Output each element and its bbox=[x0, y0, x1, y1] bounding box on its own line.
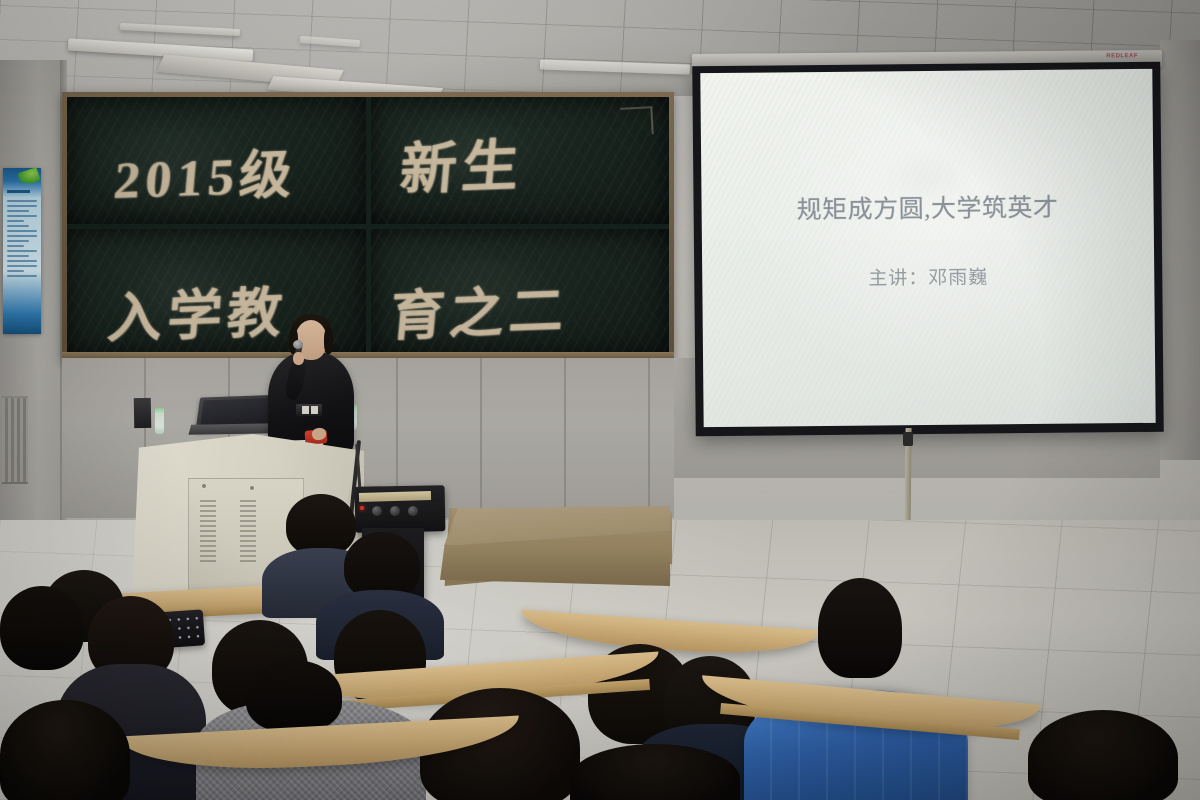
lectern-screw bbox=[202, 484, 206, 488]
student-hair bbox=[246, 660, 342, 732]
blackboard-pane-top-right: 新生 bbox=[371, 97, 670, 224]
blackboard-pane-bottom-right: 育之二 bbox=[371, 229, 670, 356]
presenter-hair-side bbox=[324, 328, 333, 354]
power-led-indicator bbox=[360, 506, 364, 510]
blackboard-panes: 2015级 新生 入学教 育之二 bbox=[67, 97, 669, 355]
student-hair bbox=[570, 744, 740, 800]
student-head bbox=[0, 586, 84, 670]
lectern-screw bbox=[250, 486, 254, 490]
lectern-vent bbox=[240, 500, 256, 562]
screen-cord-clip bbox=[903, 432, 913, 446]
chalk-text: 新生 bbox=[397, 121, 528, 206]
slide-title: 规矩成方圆,大学筑英才 bbox=[797, 188, 1059, 227]
projector-screen[interactable]: 规矩成方圆,大学筑英才 主讲：邓雨巍 bbox=[692, 62, 1164, 436]
projector-screen-surface: 规矩成方圆,大学筑英才 主讲：邓雨巍 bbox=[700, 69, 1155, 427]
slide-content: 规矩成方圆,大学筑英才 主讲：邓雨巍 bbox=[700, 69, 1155, 427]
leaf-graphic-icon bbox=[17, 168, 40, 187]
microphone-head-icon bbox=[293, 340, 303, 349]
chalk-text: 入学教 bbox=[105, 267, 291, 352]
student-head bbox=[246, 660, 342, 732]
chalk-text: 2015级 bbox=[111, 132, 300, 213]
small-black-box bbox=[134, 398, 152, 428]
water-bottle[interactable] bbox=[155, 408, 164, 434]
amplifier-faceplate bbox=[359, 491, 431, 502]
right-side-wall bbox=[1160, 40, 1200, 460]
chalk-mark bbox=[620, 106, 653, 136]
student-hair bbox=[0, 700, 130, 800]
student-head-foreground bbox=[570, 744, 740, 800]
classroom-blackboard: 2015级 新生 入学教 育之二 bbox=[62, 92, 674, 360]
presenter-hand bbox=[293, 352, 304, 365]
slide-subtitle: 主讲：邓雨巍 bbox=[868, 262, 988, 290]
presenter-belt-buckle bbox=[296, 404, 322, 416]
student-hair bbox=[0, 586, 84, 670]
poster-heading-bar bbox=[7, 190, 30, 193]
student-hair bbox=[1028, 710, 1178, 800]
blackboard-pane-top-left: 2015级 bbox=[67, 97, 366, 224]
chalk-text: 育之二 bbox=[387, 265, 573, 350]
laptop-keyboard-base[interactable] bbox=[188, 423, 279, 435]
wall-radiator bbox=[2, 396, 28, 484]
lecture-hall-photo: 2015级 新生 入学教 育之二 REDLEAF 规矩成方 bbox=[0, 0, 1200, 800]
screen-brand-label: REDLEAF bbox=[1106, 53, 1138, 59]
amplifier-knobs[interactable] bbox=[372, 506, 418, 516]
student-head-foreground bbox=[1028, 710, 1178, 800]
lectern-vent bbox=[200, 500, 216, 562]
student-head-foreground bbox=[0, 700, 130, 800]
student-hair bbox=[818, 578, 902, 678]
notice-poster bbox=[3, 168, 41, 334]
poster-text-lines bbox=[7, 200, 37, 277]
student-head bbox=[818, 578, 902, 678]
